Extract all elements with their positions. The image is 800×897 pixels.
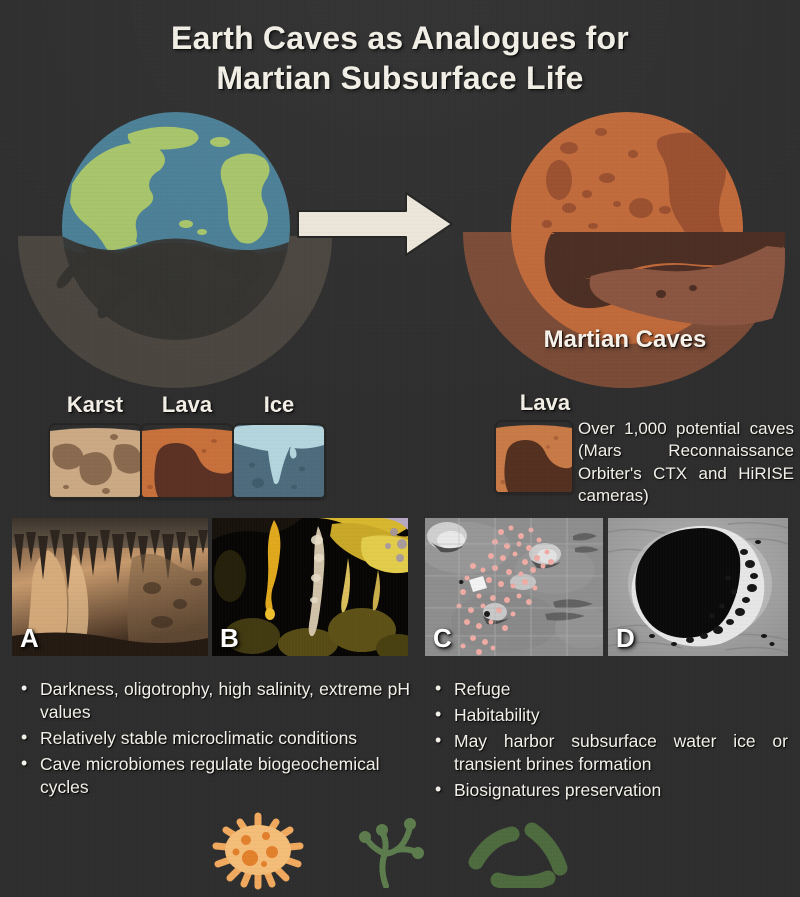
- earth-illustration: [10, 108, 340, 388]
- cave-type-label-ice: Ice: [219, 392, 339, 418]
- earth-cave-features-list: Darkness, oligotrophy, high salinity, ex…: [18, 678, 410, 802]
- earth-to-mars-arrow: [296, 189, 456, 259]
- branching-hyphae-icon: [352, 818, 438, 888]
- photo-label-c: C: [433, 623, 452, 654]
- microbe-icon-row: [200, 812, 600, 890]
- photo-panel-a: A: [12, 518, 208, 656]
- lava-cave-icon: [142, 425, 232, 497]
- list-item: Habitability: [432, 704, 788, 727]
- ice-cave-icon: [234, 425, 324, 497]
- spiky-microbe-icon: [210, 812, 306, 890]
- earth-globe-group: [10, 108, 340, 378]
- mars-cave-type-label: Lava: [485, 390, 605, 416]
- list-item: Darkness, oligotrophy, high salinity, ex…: [18, 678, 410, 724]
- martian-caves-label: Martian Caves: [455, 326, 795, 354]
- photo-panel-b: B: [212, 518, 408, 656]
- list-item: Refuge: [432, 678, 788, 701]
- mars-globe-group: Martian Caves: [455, 108, 795, 378]
- list-item: Cave microbiomes regulate biogeochemical…: [18, 753, 410, 799]
- list-item: Biosignatures preservation: [432, 779, 788, 802]
- list-item: May harbor subsurface water ice or trans…: [432, 730, 788, 776]
- page-title: Earth Caves as Analogues for Martian Sub…: [0, 18, 800, 99]
- photo-panel-c: C: [425, 518, 603, 656]
- photo-label-a: A: [20, 623, 39, 654]
- cave-microbial-mats-photo: [212, 518, 408, 656]
- mars-caves-caption: Over 1,000 potential caves (Mars Reconna…: [578, 418, 794, 508]
- mars-pit-crater-photo: [608, 518, 788, 656]
- photo-label-d: D: [616, 623, 635, 654]
- karst-cave-icon: [50, 425, 140, 497]
- title-line-1: Earth Caves as Analogues for: [0, 18, 800, 58]
- list-item: Relatively stable microclimatic conditio…: [18, 727, 410, 750]
- photo-panel-d: D: [608, 518, 788, 656]
- infographic-poster: Earth Caves as Analogues for Martian Sub…: [0, 0, 800, 897]
- photo-label-b: B: [220, 623, 239, 654]
- mars-cave-benefits-list: Refuge Habitability May harbor subsurfac…: [432, 678, 788, 805]
- mars-lava-cave-icon: [496, 422, 572, 492]
- karst-cave-photo: [12, 518, 208, 656]
- bacilli-rods-icon: [466, 822, 570, 888]
- title-line-2: Martian Subsurface Life: [0, 58, 800, 98]
